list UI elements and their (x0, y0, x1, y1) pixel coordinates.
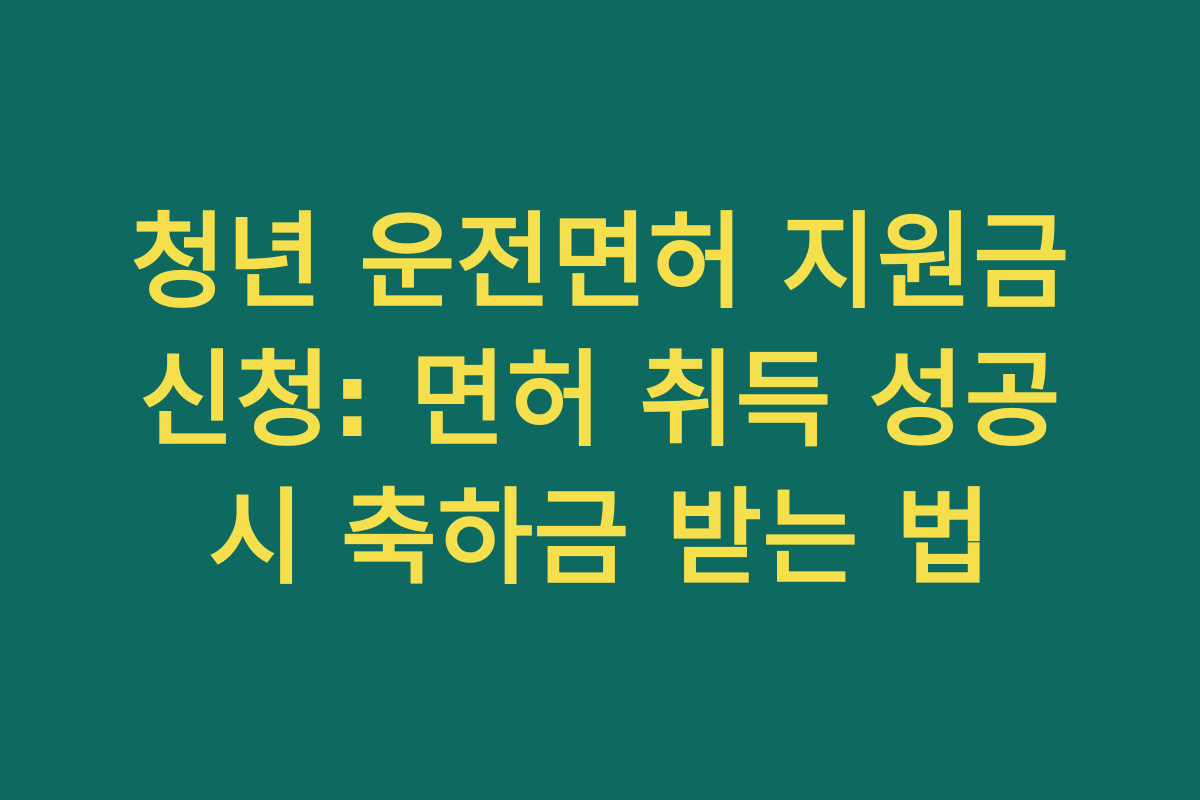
title-block: 청년 운전면허 지원금 신청: 면허 취득 성공 시 축하금 받는 법 (80, 193, 1120, 607)
title-card: 청년 운전면허 지원금 신청: 면허 취득 성공 시 축하금 받는 법 (0, 0, 1200, 800)
page-title: 청년 운전면허 지원금 신청: 면허 취득 성공 시 축하금 받는 법 (84, 193, 1116, 607)
